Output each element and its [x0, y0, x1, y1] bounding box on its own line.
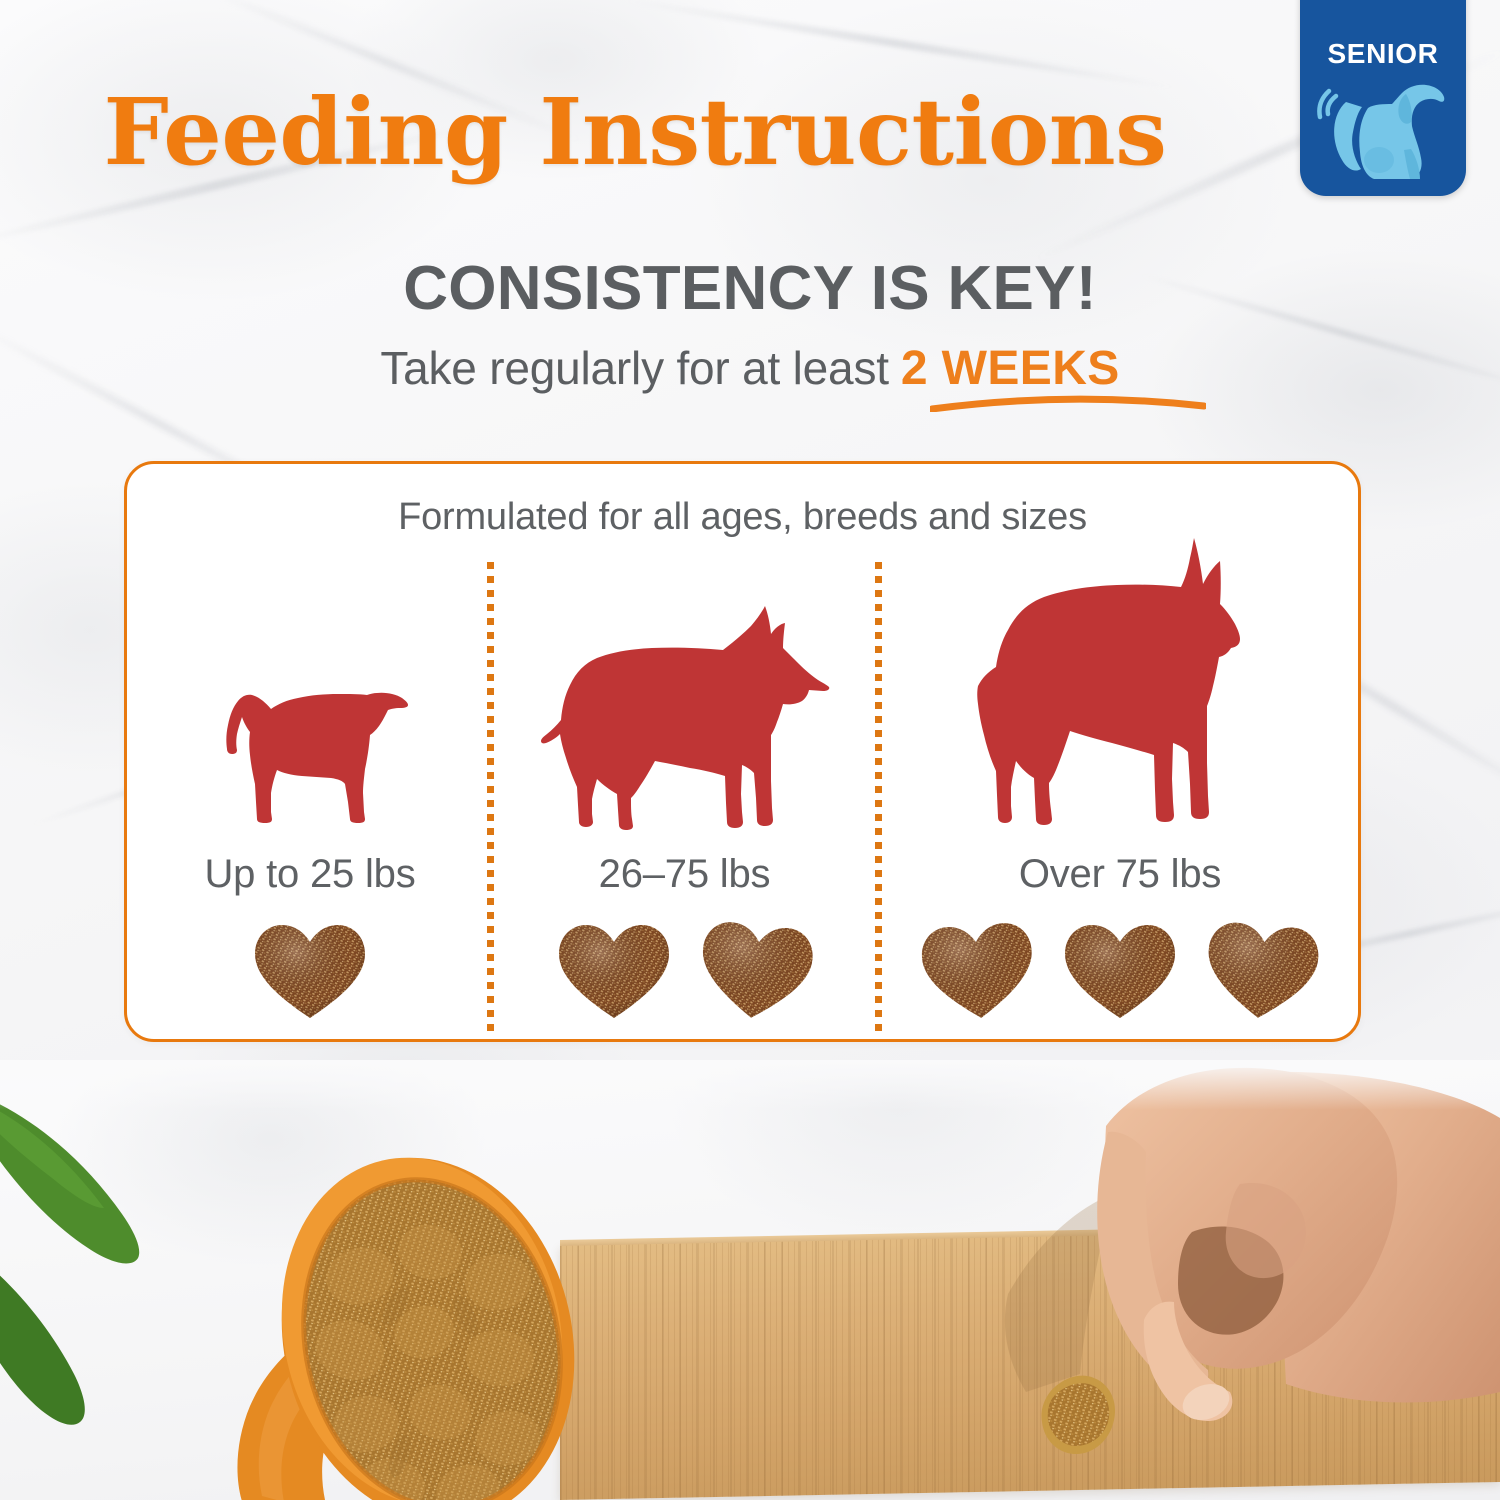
senior-badge-label: SENIOR: [1300, 38, 1466, 70]
tagline-underline-swoosh: [930, 392, 1206, 412]
infographic-root: SENIOR Feeding Instructions CONSISTENCY …: [0, 0, 1500, 1500]
page-title: Feeding Instructions: [0, 86, 1270, 178]
size-label: Over 75 lbs: [882, 852, 1358, 897]
size-column-small: Up to 25 lbs: [133, 504, 487, 1034]
size-column-medium: 26–75 lbs: [494, 504, 875, 1034]
tagline-prefix: Take regularly for at least: [380, 342, 889, 394]
heart-kibble-icon: [1200, 919, 1324, 1023]
green-leaf-icon: [0, 1228, 150, 1458]
page-subtitle: CONSISTENCY IS KEY!: [0, 258, 1500, 320]
dog-illustration-slot: [494, 534, 875, 834]
kibble-row-large: [882, 919, 1358, 1023]
size-column-large: Over 75 lbs: [882, 504, 1358, 1034]
orange-measuring-scoop: [200, 1156, 620, 1500]
size-label: Up to 25 lbs: [133, 852, 487, 897]
kibble-row-medium: [494, 919, 875, 1023]
hand-holding-kibble-icon: [930, 1062, 1500, 1482]
senior-badge: SENIOR: [1300, 0, 1466, 196]
column-divider: [487, 562, 494, 1038]
tagline-accent: 2 WEEKS: [901, 342, 1120, 395]
heart-kibble-icon: [1058, 919, 1182, 1023]
medium-dog-icon: [537, 598, 833, 834]
kibble-row-small: [133, 919, 487, 1023]
heart-kibble-icon: [248, 919, 372, 1023]
small-dog-icon: [207, 662, 413, 834]
sitting-dog-icon: [1316, 74, 1452, 186]
size-label: 26–75 lbs: [494, 852, 875, 897]
heart-kibble-icon: [552, 919, 676, 1023]
product-photo: [0, 1060, 1500, 1500]
column-divider: [875, 562, 882, 1038]
heart-kibble-icon: [916, 919, 1040, 1023]
tagline: Take regularly for at least2 WEEKS: [0, 345, 1500, 393]
heart-kibble-icon: [694, 919, 818, 1023]
dog-illustration-slot: [882, 534, 1358, 834]
dog-illustration-slot: [133, 534, 487, 834]
large-dog-icon: [972, 534, 1268, 834]
feeding-chart-card: Formulated for all ages, breeds and size…: [124, 461, 1361, 1042]
